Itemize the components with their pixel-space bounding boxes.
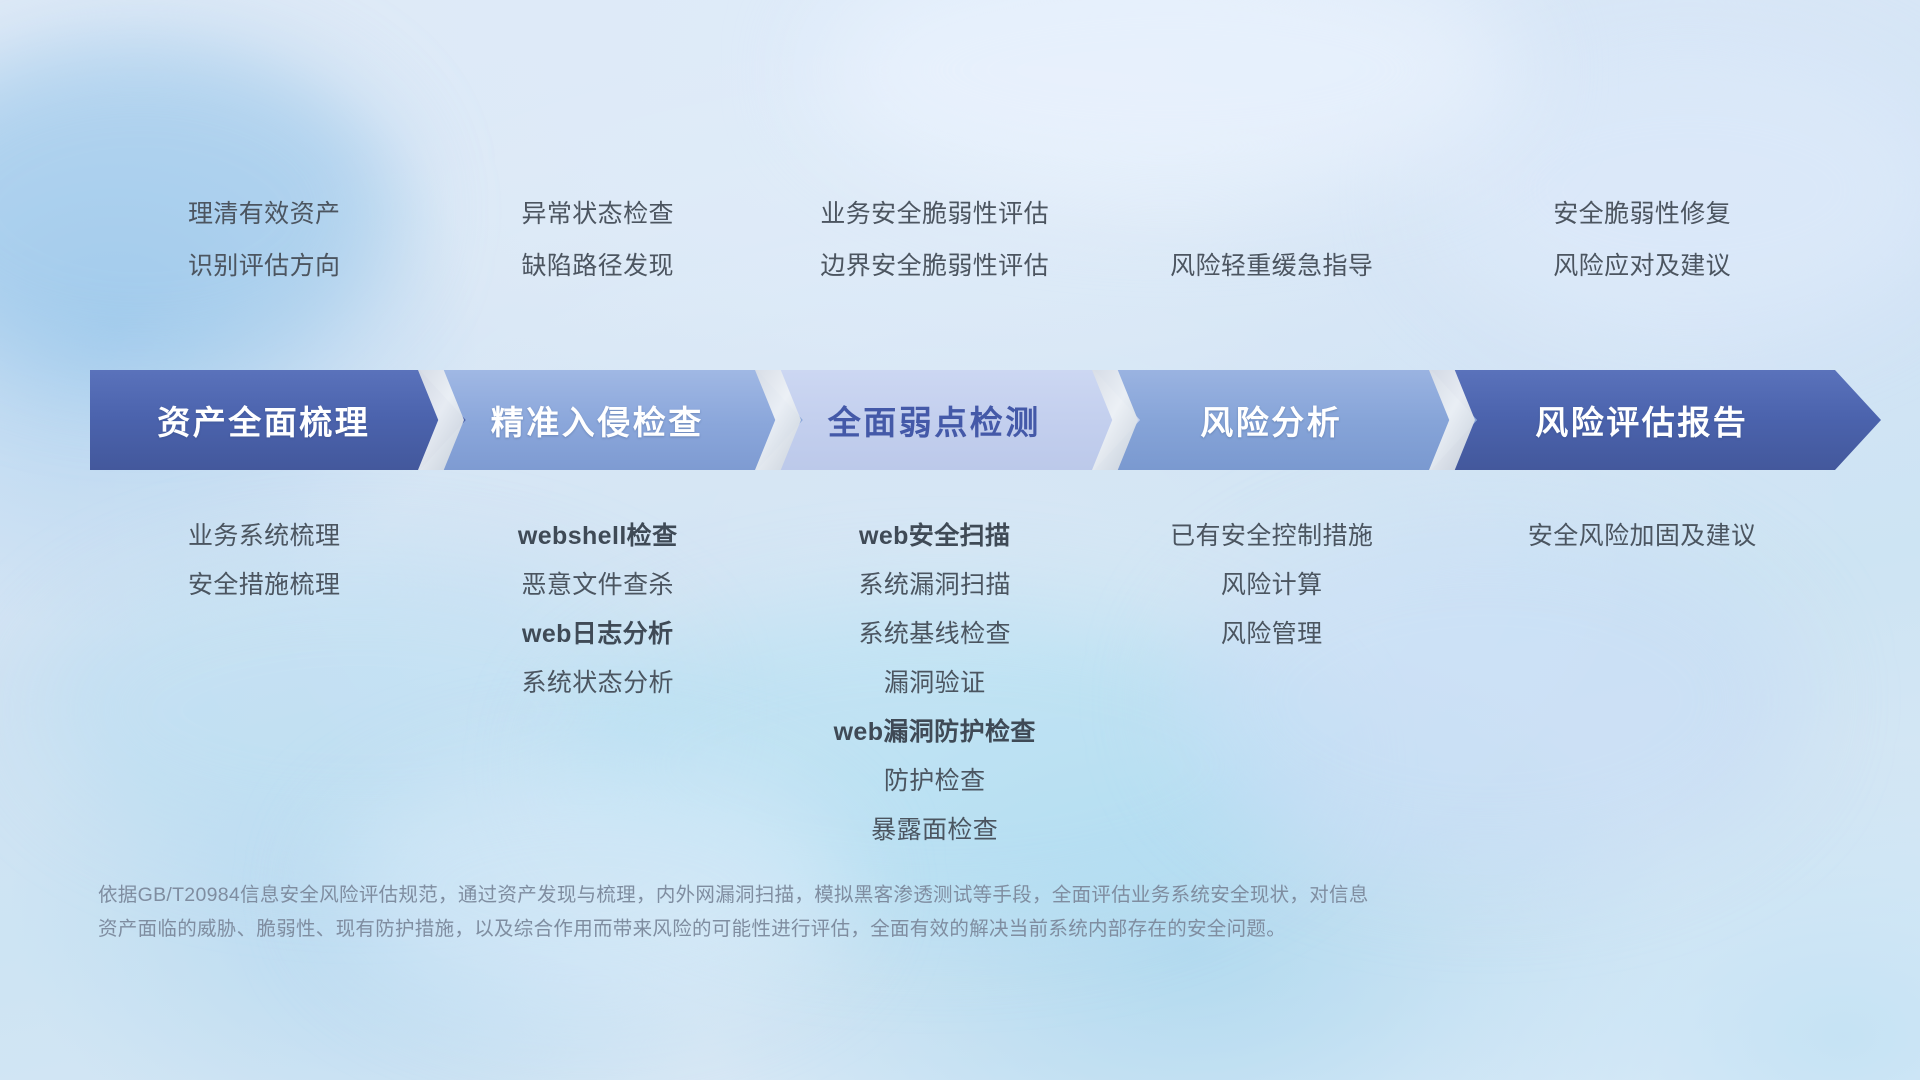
stage-bottom-item-text: 恶意文件查杀 — [521, 571, 673, 599]
slide-canvas: 理清有效资产识别评估方向业务系统梳理安全措施梳理异常状态检查缺陷路径发现webs… — [0, 0, 1920, 1080]
stage-bottom-item-text: web日志分析 — [522, 620, 673, 648]
stage-bottom-item-text: 风险管理 — [1221, 620, 1323, 648]
stage-bottom-list: 安全风险加固及建议 — [1432, 512, 1852, 561]
stage-bottom-item-text: 系统基线检查 — [858, 620, 1010, 648]
stage-chevron-intrusion-check[interactable]: 精准入侵检查 — [420, 370, 803, 470]
stage-bottom-item-text: 风险计算 — [1221, 571, 1323, 599]
stage-label: 风险分析 — [1200, 396, 1342, 444]
stage-bottom-list: 已有安全控制措施风险计算风险管理 — [1062, 512, 1482, 659]
stage-bottom-item-text: 系统漏洞扫描 — [858, 571, 1010, 599]
stage-bottom-item-text: 安全措施梳理 — [188, 571, 340, 599]
stage-label: 资产全面梳理 — [157, 396, 370, 444]
stage-bottom-item-text: web漏洞防护检查 — [834, 718, 1036, 746]
footer-line-1: 依据GB/T20984信息安全风险评估规范，通过资产发现与梳理，内外网漏洞扫描，… — [98, 878, 1658, 912]
stage-top-item: 安全脆弱性修复 — [1432, 188, 1852, 240]
stage-chevron-weakness-detection[interactable]: 全面弱点检测 — [757, 370, 1140, 470]
stage-bottom-item-text: 业务系统梳理 — [188, 522, 340, 550]
stage-bottom-item-text: 安全风险加固及建议 — [1528, 522, 1757, 550]
footer-line-2: 资产面临的威胁、脆弱性、现有防护措施，以及综合作用而带来风险的可能性进行评估，全… — [98, 912, 1658, 946]
stage-chevron-risk-analysis[interactable]: 风险分析 — [1094, 370, 1477, 470]
stage-bottom-item-text: webshell检查 — [518, 522, 678, 550]
stage-top-item: 风险应对及建议 — [1432, 240, 1852, 292]
stage-top-list: 安全脆弱性修复风险应对及建议 — [1432, 188, 1852, 292]
footer-description: 依据GB/T20984信息安全风险评估规范，通过资产发现与梳理，内外网漏洞扫描，… — [98, 878, 1658, 946]
stage-bottom-item-text: 暴露面检查 — [871, 816, 998, 844]
stage-label: 全面弱点检测 — [828, 396, 1041, 444]
stage-bottom-item-text: web安全扫描 — [859, 522, 1010, 550]
stage-bottom-item-text: 防护检查 — [884, 767, 986, 795]
stage-label: 风险评估报告 — [1535, 396, 1748, 444]
stage-bottom-item-text: 已有安全控制措施 — [1170, 522, 1373, 550]
stage-bottom-item: 风险管理 — [1062, 610, 1482, 659]
stage-chevron-risk-report[interactable]: 风险评估报告 — [1431, 370, 1881, 470]
stage-bottom-item-text: 漏洞验证 — [884, 669, 986, 697]
stage-chevron-asset-inventory[interactable]: 资产全面梳理 — [90, 370, 466, 470]
stage-bottom-item: 已有安全控制措施 — [1062, 512, 1482, 561]
stage-top-list: 风险轻重缓急指导 — [1062, 240, 1482, 292]
stage-top-item: 风险轻重缓急指导 — [1062, 240, 1482, 292]
stage-label: 精准入侵检查 — [491, 396, 704, 444]
stage-bottom-item: 风险计算 — [1062, 561, 1482, 610]
process-chevron-bar: 资产全面梳理精准入侵检查全面弱点检测风险分析风险评估报告 — [90, 370, 1835, 470]
stage-bottom-item-text: 系统状态分析 — [521, 669, 673, 697]
stage-bottom-item: 安全风险加固及建议 — [1432, 512, 1852, 561]
